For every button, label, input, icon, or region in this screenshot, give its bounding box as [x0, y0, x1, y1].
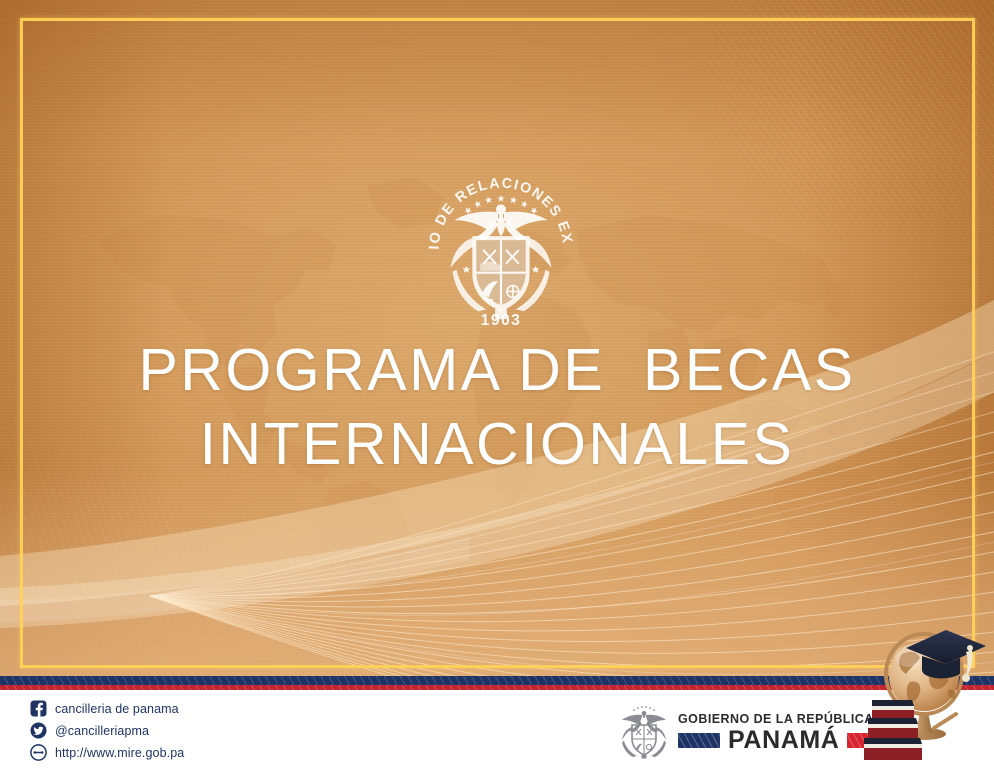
website-icon	[30, 744, 47, 761]
scholarship-program-poster: MINISTERIO DE RELACIONES EXTERIORES 1903	[0, 0, 994, 768]
flag-bar-navy	[678, 733, 720, 748]
website-url: http://www.mire.gob.pa	[55, 746, 184, 760]
social-link-website[interactable]: http://www.mire.gob.pa	[30, 742, 184, 763]
title-line-2: INTERNACIONALES	[0, 414, 994, 474]
navy-stripe	[0, 676, 994, 685]
facebook-handle: cancilleria de panama	[55, 702, 179, 716]
poster-title: PROGRAMA DE BECAS INTERNACIONALES	[0, 340, 994, 474]
graduation-globe-books-icon	[862, 612, 990, 768]
social-links: cancilleria de panama @cancilleriapma	[30, 698, 184, 764]
facebook-icon	[30, 700, 47, 717]
twitter-handle: @cancilleriapma	[55, 724, 149, 738]
government-logo: GOBIERNO DE LA REPÚBLICA DE PANAMÁ	[620, 703, 896, 759]
social-link-twitter[interactable]: @cancilleriapma	[30, 720, 184, 741]
social-link-facebook[interactable]: cancilleria de panama	[30, 698, 184, 719]
title-line-1: PROGRAMA DE BECAS	[0, 340, 994, 400]
panama-coat-of-arms-icon	[620, 703, 668, 759]
government-country: PANAMÁ	[728, 728, 839, 753]
svg-text:MINISTERIO DE RELACIONES EXTER: MINISTERIO DE RELACIONES EXTERIORES	[417, 155, 575, 250]
red-stripe	[0, 685, 994, 690]
ministry-seal-icon: MINISTERIO DE RELACIONES EXTERIORES 1903	[417, 155, 585, 337]
twitter-icon	[30, 722, 47, 739]
